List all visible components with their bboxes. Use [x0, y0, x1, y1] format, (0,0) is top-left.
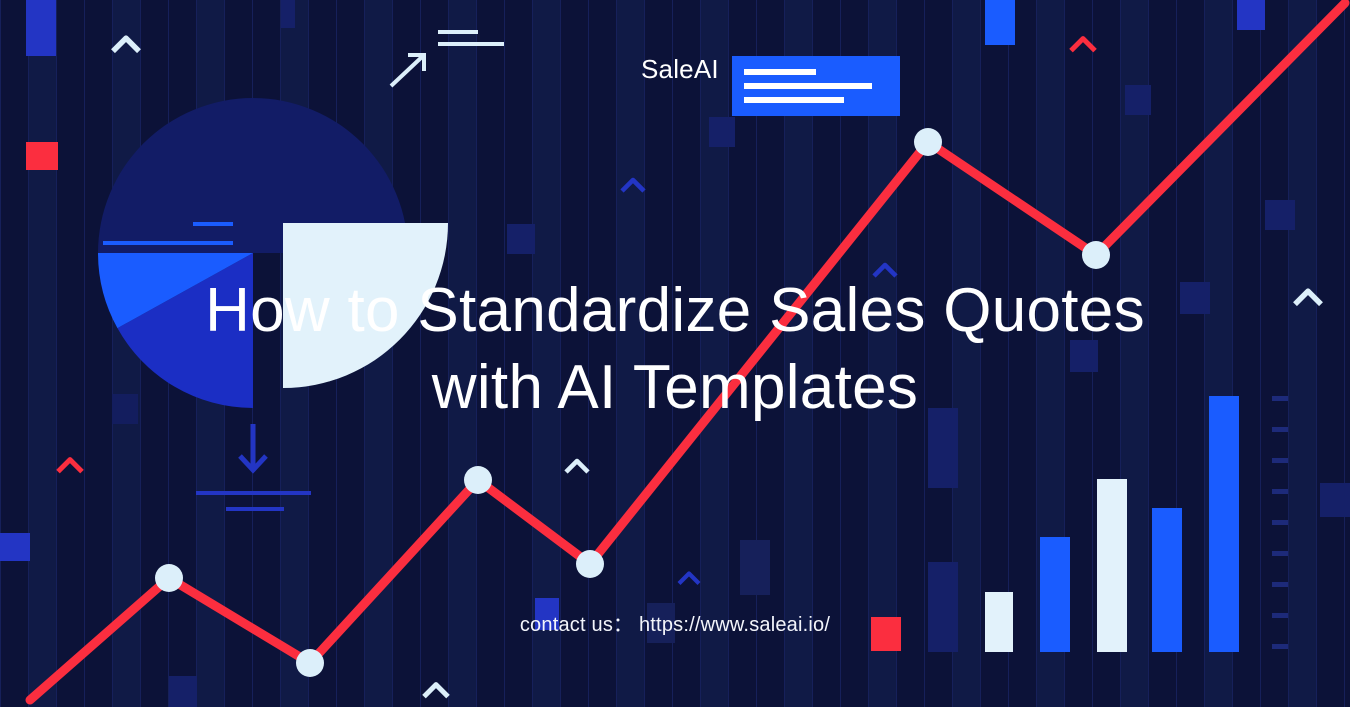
accent-block: [169, 676, 197, 707]
tick-mark: [1272, 458, 1288, 463]
chevron-up-icon: [1071, 39, 1095, 51]
accent-block: [1125, 85, 1151, 115]
page-title: How to Standardize Sales Quotes with AI …: [0, 272, 1350, 426]
line-marker: [576, 550, 604, 578]
arrow-down-icon: [240, 424, 266, 470]
line-marker: [155, 564, 183, 592]
tick-mark: [1272, 644, 1288, 649]
info-card-group: [732, 56, 900, 116]
chevron-up-icon: [113, 38, 139, 51]
accent-block: [709, 117, 735, 147]
accent-block: [26, 142, 58, 170]
card-text-line: [744, 83, 872, 89]
decor-line: [193, 222, 233, 226]
accent-block: [740, 540, 770, 595]
chevron-up-icon: [622, 180, 644, 191]
line-marker: [464, 466, 492, 494]
brand-label: SaleAI: [641, 54, 719, 85]
decor-line: [196, 491, 311, 495]
decor-line: [438, 30, 478, 34]
tick-mark: [1272, 582, 1288, 587]
decor-line: [103, 241, 233, 245]
accent-block: [281, 0, 295, 28]
accent-block: [985, 0, 1015, 45]
tick-mark: [1272, 427, 1288, 432]
accent-block: [507, 224, 535, 254]
chevron-up-icon: [679, 574, 699, 584]
banner-canvas: SaleAI How to Standardize Sales Quotes w…: [0, 0, 1350, 707]
accent-block: [1320, 483, 1350, 517]
decor-line: [155, 258, 233, 262]
contact-link[interactable]: contact us： https://www.saleai.io/: [0, 608, 1350, 637]
tick-mark: [1272, 520, 1288, 525]
accent-block: [0, 533, 30, 561]
tick-mark: [1272, 551, 1288, 556]
accent-block: [1237, 0, 1265, 30]
bar: [928, 562, 958, 652]
chevron-up-icon: [58, 460, 82, 472]
line-marker: [296, 649, 324, 677]
chevron-up-icon: [424, 685, 448, 697]
tick-mark: [1272, 489, 1288, 494]
line-marker: [914, 128, 942, 156]
decor-line: [226, 507, 284, 511]
card-text-line: [744, 69, 816, 75]
card-text-line: [744, 97, 844, 103]
accent-block: [26, 0, 56, 56]
line-marker: [1082, 241, 1110, 269]
decor-line: [438, 42, 504, 46]
accent-block: [1265, 200, 1295, 230]
arrow-up-right-icon: [391, 55, 424, 86]
chevron-up-icon: [566, 461, 588, 472]
